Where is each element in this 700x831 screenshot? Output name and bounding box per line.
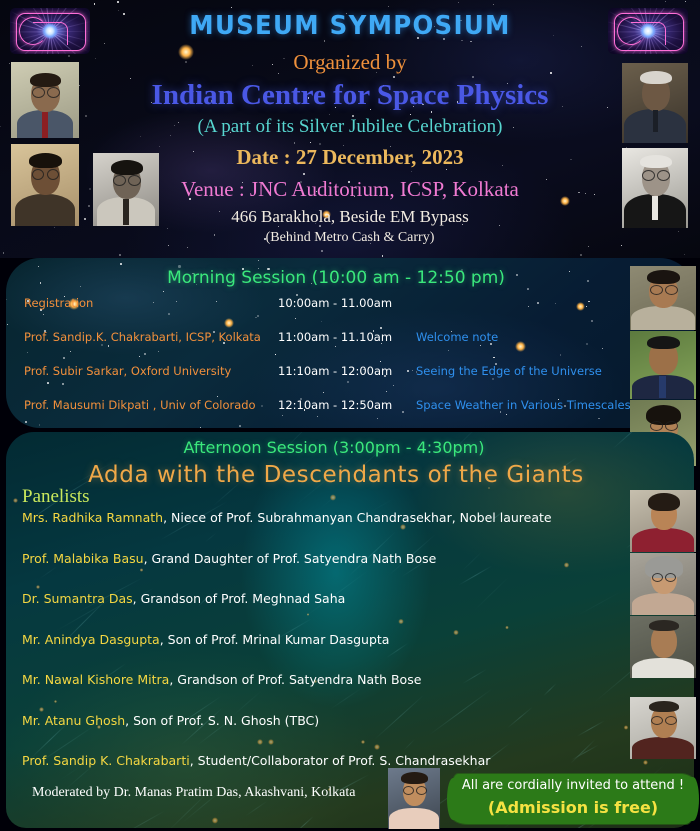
event-date: Date : 27 December, 2023 [0,145,700,170]
panelist-row: Mr. Atanu Ghosh, Son of Prof. S. N. Ghos… [22,713,319,728]
panelist-name: Mr. Atanu Ghosh [22,713,125,728]
panelist-relation: , Student/Collaborator of Prof. S. Chand… [190,753,491,768]
moderator-photo [388,768,440,829]
panelist-name: Prof. Malabika Basu [22,551,144,566]
panelist-name: Prof. Sandip K. Chakrabarti [22,753,190,768]
panelist-row: Dr. Sumantra Das, Grandson of Prof. Megh… [22,591,345,606]
morning-row-time: 12:10am - 12:50am [278,398,392,412]
panelist-row: Mr. Anindya Dasgupta, Son of Prof. Mrina… [22,632,389,647]
afternoon-headline: Adda with the Descendants of the Giants [6,462,666,488]
morning-row-speaker: Prof. Sandip.K. Chakrabarti, ICSP, Kolka… [24,330,261,344]
moderator-text: Moderated by Dr. Manas Pratim Das, Akash… [32,785,356,801]
panelist-row: Mr. Nawal Kishore Mitra, Grandson of Pro… [22,672,421,687]
speaker-photo-1 [630,266,696,330]
morning-row-topic: Seeing the Edge of the Universe [416,364,602,378]
panelist-photo-2 [630,553,696,615]
panelist-name: Mrs. Radhika Ramnath [22,510,163,525]
morning-row-time: 10:00am - 11.00am [278,296,392,310]
page-title: MUSEUM SYMPOSIUM [21,11,679,41]
morning-row: Prof. Mausumi Dikpati , Univ of Colorado… [6,398,694,416]
address-line-2: (Behind Metro Cash & Carry) [0,230,700,246]
banner-line-2: (Admission is free) [452,798,694,817]
panelists-label: Panelists [22,486,90,508]
morning-row: Prof. Subir Sarkar, Oxford University11:… [6,364,694,382]
organization-name: Indian Centre for Space Physics [0,79,700,112]
invitation-banner: All are cordially invited to attend ! (A… [452,774,694,824]
morning-row-topic: Welcome note [416,330,498,344]
panelist-photo-4 [630,697,696,759]
morning-session-title: Morning Session (10:00 am - 12:50 pm) [6,268,666,288]
panelist-relation: , Grandson of Prof. Satyendra Nath Bose [169,672,421,687]
morning-row-speaker: Prof. Subir Sarkar, Oxford University [24,364,231,378]
panelist-relation: , Grand Daughter of Prof. Satyendra Nath… [144,551,437,566]
event-venue: Venue : JNC Auditorium, ICSP, Kolkata [0,177,700,202]
panelist-photo-3 [630,616,696,678]
speaker-photo-2 [630,331,696,399]
morning-row-time: 11:00am - 11.10am [278,330,392,344]
morning-row: Registration10:00am - 11.00am [6,296,694,314]
panelist-photo-1 [630,490,696,552]
jubilee-subtitle: (A part of its Silver Jubilee Celebratio… [0,116,700,138]
morning-session-panel: Morning Session (10:00 am - 12:50 pm) Re… [6,258,694,428]
banner-line-1: All are cordially invited to attend ! [452,778,694,793]
panelist-relation: , Son of Prof. S. N. Ghosh (TBC) [125,713,319,728]
morning-row-speaker: Registration [24,296,93,310]
afternoon-session-panel: Afternoon Session (3:00pm - 4:30pm) Adda… [6,432,694,828]
morning-row-topic: Space Weather in Various Timescales [416,398,631,412]
morning-row: Prof. Sandip.K. Chakrabarti, ICSP, Kolka… [6,330,694,348]
panelist-row: Prof. Sandip K. Chakrabarti, Student/Col… [22,753,490,768]
panelist-relation: , Grandson of Prof. Meghnad Saha [133,591,346,606]
address-line-1: 466 Barakhola, Beside EM Bypass [0,207,700,227]
morning-row-time: 11:10am - 12:00am [278,364,392,378]
panelist-row: Mrs. Radhika Ramnath, Niece of Prof. Sub… [22,510,552,525]
symposium-poster: MUSEUM SYMPOSIUM Organized by Indian Cen… [0,0,700,831]
panelist-relation: , Niece of Prof. Subrahmanyan Chandrasek… [163,510,552,525]
panelist-name: Mr. Anindya Dasgupta [22,632,160,647]
panelist-row: Prof. Malabika Basu, Grand Daughter of P… [22,551,436,566]
panelist-name: Mr. Nawal Kishore Mitra [22,672,169,687]
organized-by-label: Organized by [0,50,700,75]
nebula-streaks [6,432,694,828]
morning-row-speaker: Prof. Mausumi Dikpati , Univ of Colorado [24,398,256,412]
panelist-relation: , Son of Prof. Mrinal Kumar Dasgupta [160,632,390,647]
afternoon-session-title: Afternoon Session (3:00pm - 4:30pm) [6,438,662,457]
panelist-name: Dr. Sumantra Das [22,591,133,606]
